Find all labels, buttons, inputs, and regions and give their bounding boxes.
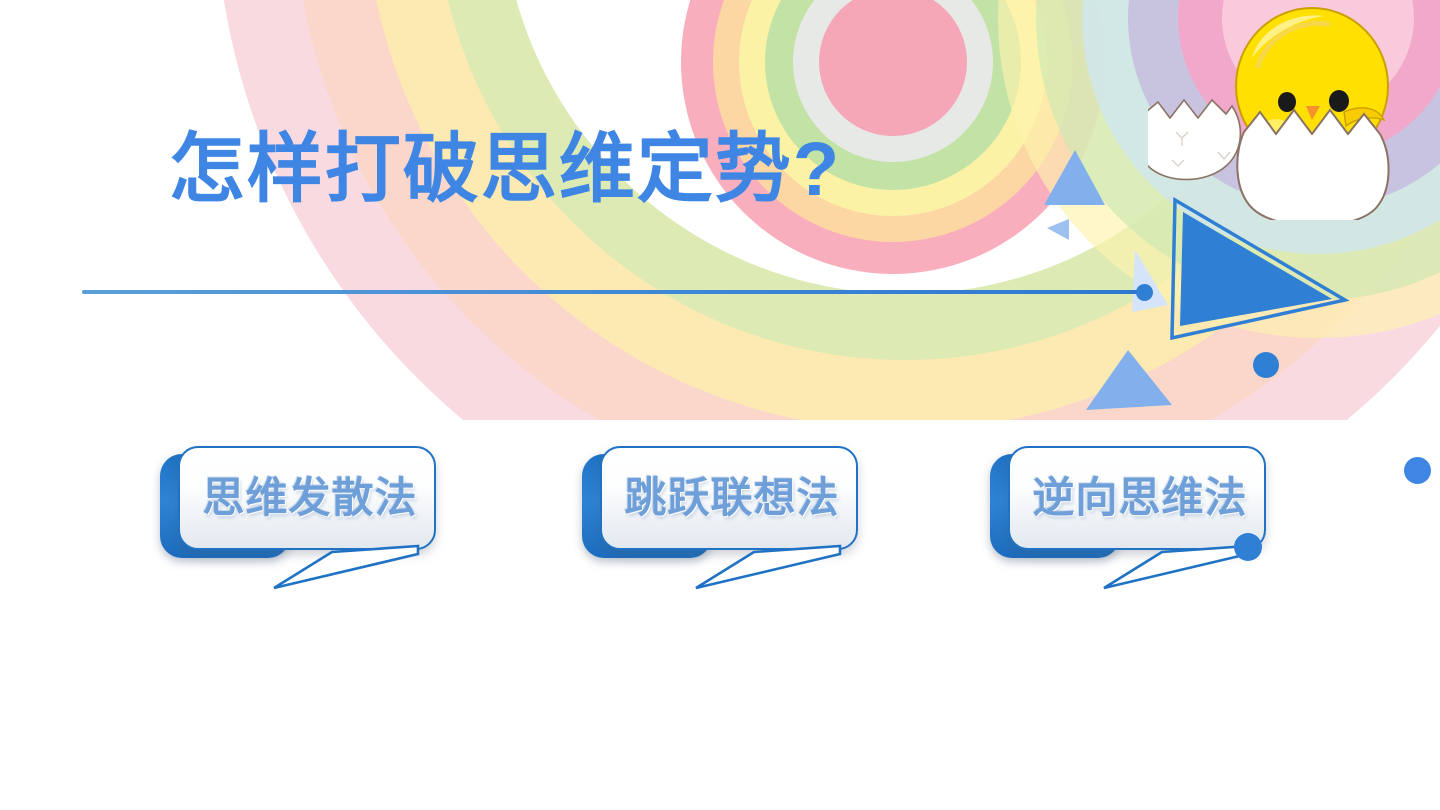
chick-eye-left xyxy=(1278,92,1296,112)
bubble-label: 逆向思维法 xyxy=(1026,477,1247,519)
triangle-up-icon xyxy=(1044,150,1105,205)
bubble-front-panel: 思维发散法 xyxy=(178,446,436,550)
horizontal-divider xyxy=(82,290,1145,294)
callout-bubble-2[interactable]: 跳跃联想法 xyxy=(582,446,858,550)
bubble-corner-dot xyxy=(1234,533,1262,561)
arrow-corner-dot xyxy=(1253,352,1279,378)
bubble-front-panel: 跳跃联想法 xyxy=(600,446,858,550)
eggshell-fragment xyxy=(1148,100,1240,180)
title-block: 怎样打破思维定势? xyxy=(0,132,1010,208)
bubble-tail-icon xyxy=(270,544,425,594)
right-pointing-triangle-arrow xyxy=(1180,212,1332,326)
right-edge-dot xyxy=(1404,457,1431,484)
callout-bubble-3[interactable]: 逆向思维法 xyxy=(990,446,1266,550)
page-title: 怎样打破思维定势? xyxy=(169,132,841,208)
bubble-label: 跳跃联想法 xyxy=(618,477,839,519)
triangle-down-left-icon xyxy=(1086,350,1172,410)
bubble-front-panel: 逆向思维法 xyxy=(1008,446,1266,550)
triangle-left-small-icon xyxy=(1047,219,1069,240)
triangle-outline-frame xyxy=(1172,200,1345,338)
hatching-chick-illustration xyxy=(1148,0,1440,220)
chick-eye-right xyxy=(1329,90,1349,112)
chick-svg xyxy=(1148,0,1440,220)
bubble-label: 思维发散法 xyxy=(196,477,417,519)
triangle-pale-icon xyxy=(1132,250,1168,312)
divider-endpoint-dot xyxy=(1136,284,1153,301)
presentation-slide: 怎样打破思维定势? 思维发散法 xyxy=(0,0,1440,810)
callout-bubble-1[interactable]: 思维发散法 xyxy=(160,446,436,550)
bubble-tail-icon xyxy=(1100,544,1255,594)
bubble-tail-icon xyxy=(692,544,847,594)
